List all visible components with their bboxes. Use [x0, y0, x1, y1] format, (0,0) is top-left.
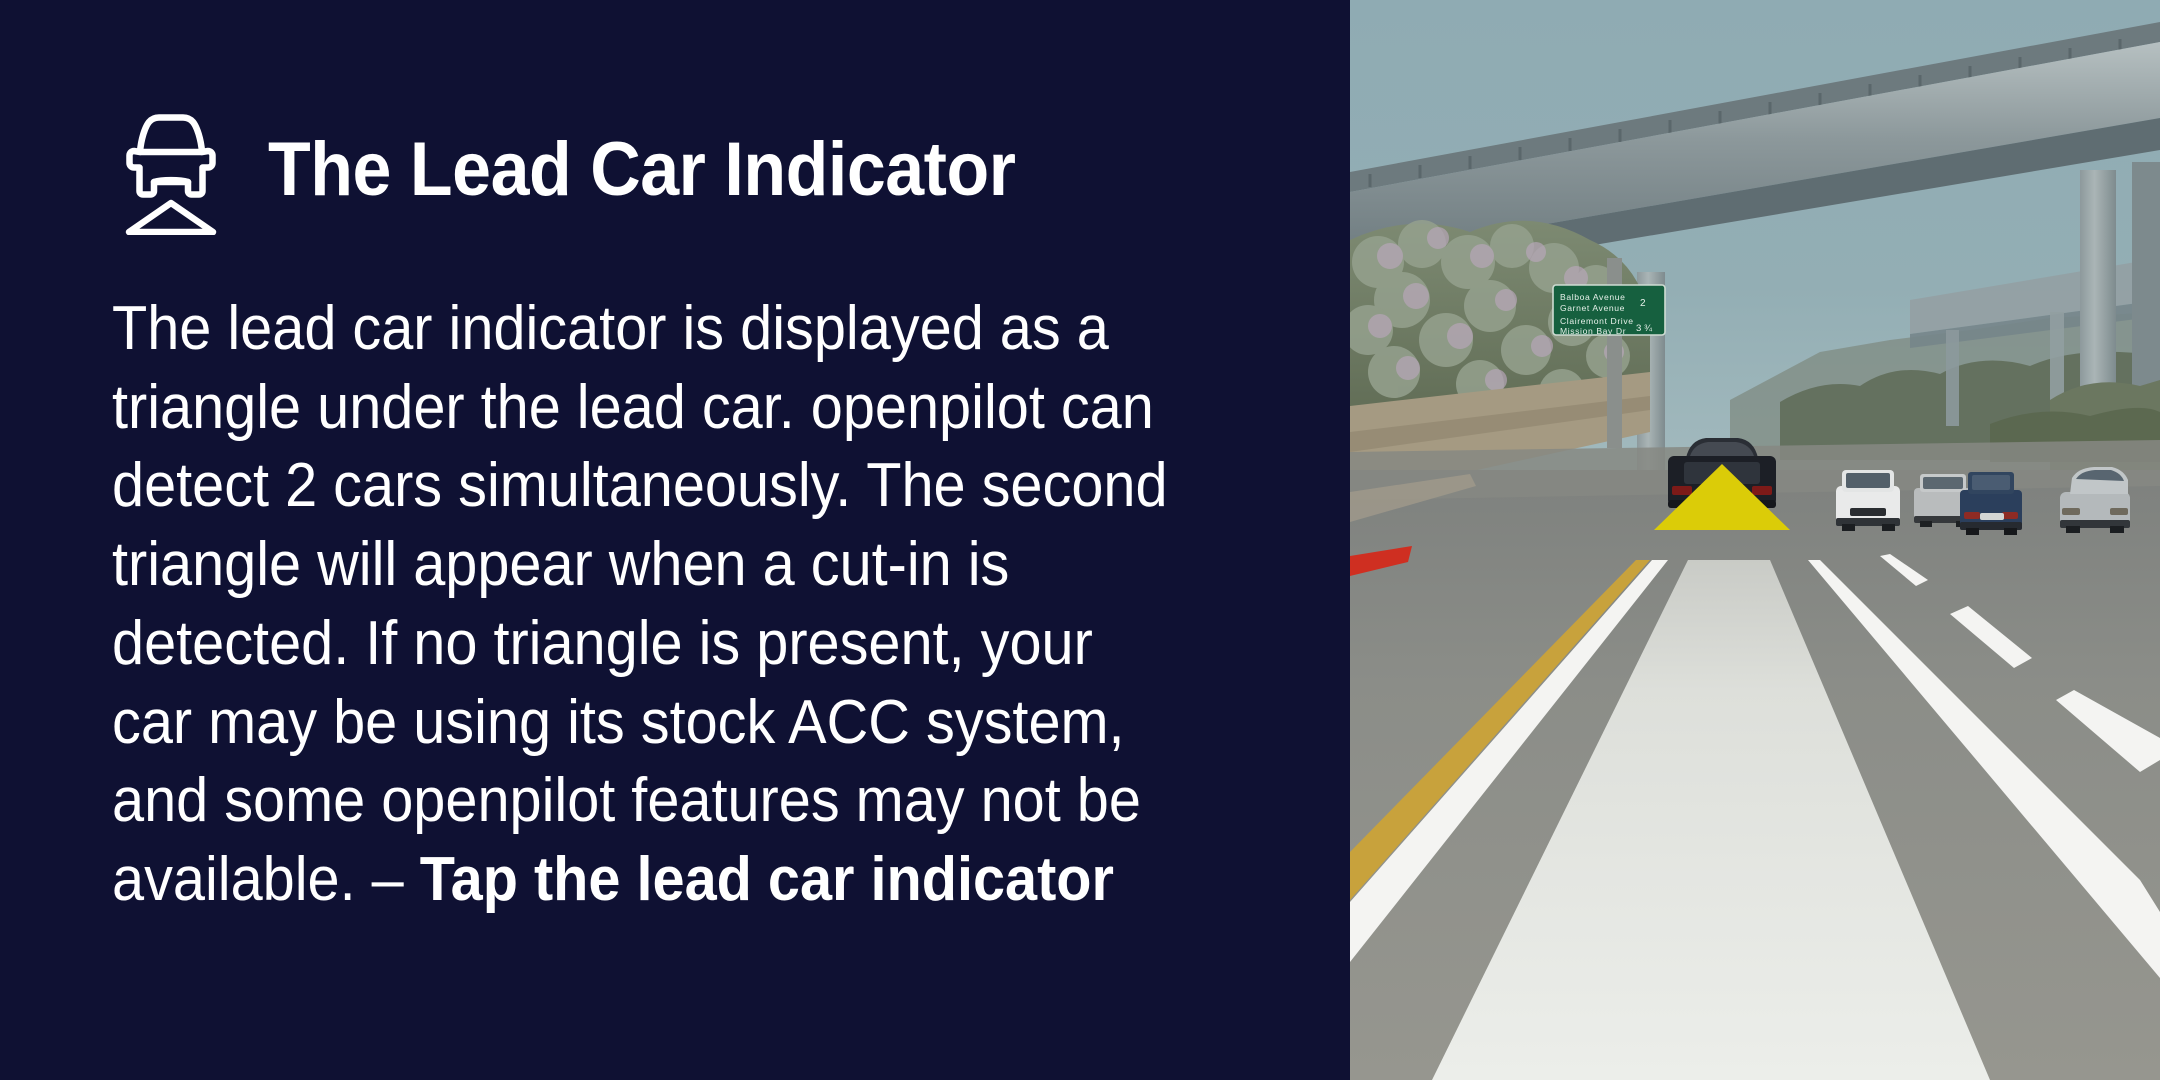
sign-line-4: Mission Bay Dr	[1560, 326, 1626, 336]
lead-car-triangle-icon	[112, 105, 230, 235]
page-title: The Lead Car Indicator	[268, 132, 1016, 208]
highway-guide-sign: Balboa Avenue Garnet Avenue 2 Clairemont…	[1553, 285, 1665, 336]
sign-line-3: Clairemont Drive	[1560, 316, 1634, 326]
sign-line-2: Garnet Avenue	[1560, 303, 1625, 313]
sign-distance-2: 3 ¾	[1636, 323, 1653, 334]
panel-header: The Lead Car Indicator	[112, 104, 1350, 236]
body-text-cta: Tap the lead car indicator	[420, 845, 1114, 914]
sign-distance-1: 2	[1640, 298, 1646, 309]
body-text-main: The lead car indicator is displayed as a…	[112, 294, 1168, 914]
blue-pickup	[1960, 472, 2022, 535]
white-suv	[1836, 470, 1900, 531]
info-panel: The Lead Car Indicator The lead car indi…	[0, 0, 1350, 1080]
dashcam-scene: Balboa Avenue Garnet Avenue 2 Clairemont…	[1350, 0, 2160, 1080]
panel-body-text: The lead car indicator is displayed as a…	[112, 290, 1168, 920]
sign-line-1: Balboa Avenue	[1560, 292, 1625, 302]
lead-car-indicator-screen: The Lead Car Indicator The lead car indi…	[0, 0, 2160, 1080]
dashcam-photo-panel: Balboa Avenue Garnet Avenue 2 Clairemont…	[1350, 0, 2160, 1080]
